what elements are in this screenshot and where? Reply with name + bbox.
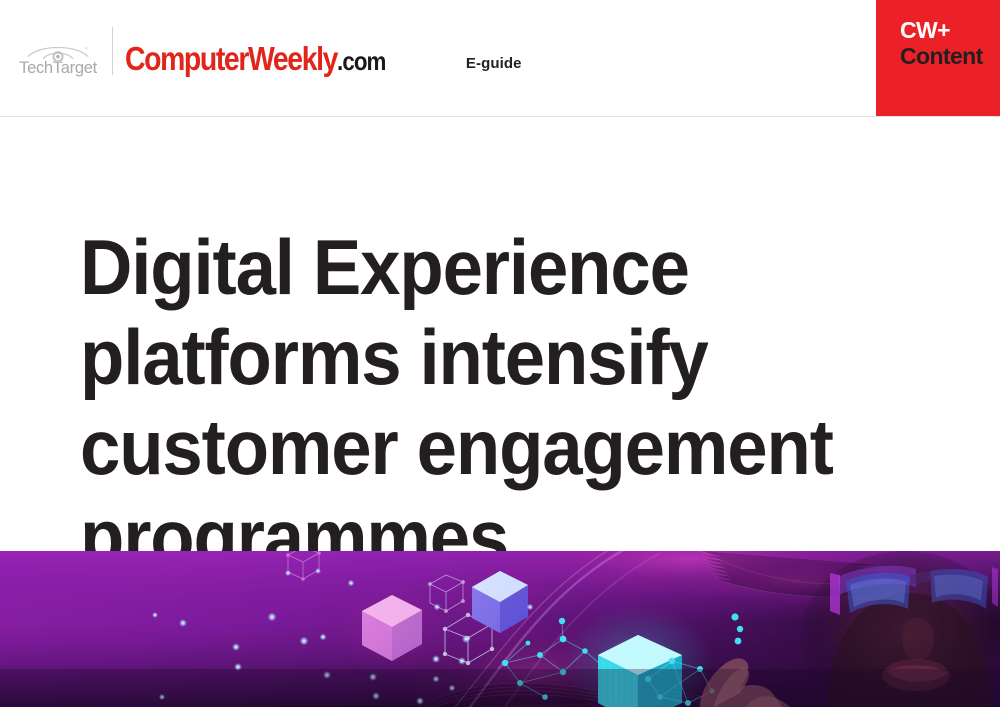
brand-row: TechTarget ComputerWeekly.com E-guide (14, 24, 522, 78)
e-guide-cover-page: TechTarget ComputerWeekly.com E-guide CW… (0, 0, 1000, 707)
badge-line-content: Content (900, 44, 1000, 70)
hero-illustration (0, 551, 1000, 707)
publication-name: ComputerWeekly (125, 40, 337, 77)
page-title: Digital Experience platforms intensify c… (80, 222, 852, 582)
cw-plus-content-badge[interactable]: CW+ Content (876, 0, 1000, 116)
badge-line-cw-plus: CW+ (900, 18, 1000, 44)
publication-tld: .com (337, 46, 385, 76)
blue-cube (448, 561, 552, 645)
pink-translucent-cube (332, 581, 452, 677)
computerweekly-logo[interactable]: ComputerWeekly.com (125, 42, 385, 78)
brand-divider (112, 27, 113, 75)
hero-image (0, 551, 1000, 707)
techtarget-wordmark: TechTarget (19, 60, 97, 77)
site-header: TechTarget ComputerWeekly.com E-guide CW… (0, 0, 1000, 117)
eye-target-icon (26, 43, 90, 61)
content-type-label: E-guide (466, 55, 522, 78)
techtarget-logo[interactable]: TechTarget (14, 43, 102, 79)
